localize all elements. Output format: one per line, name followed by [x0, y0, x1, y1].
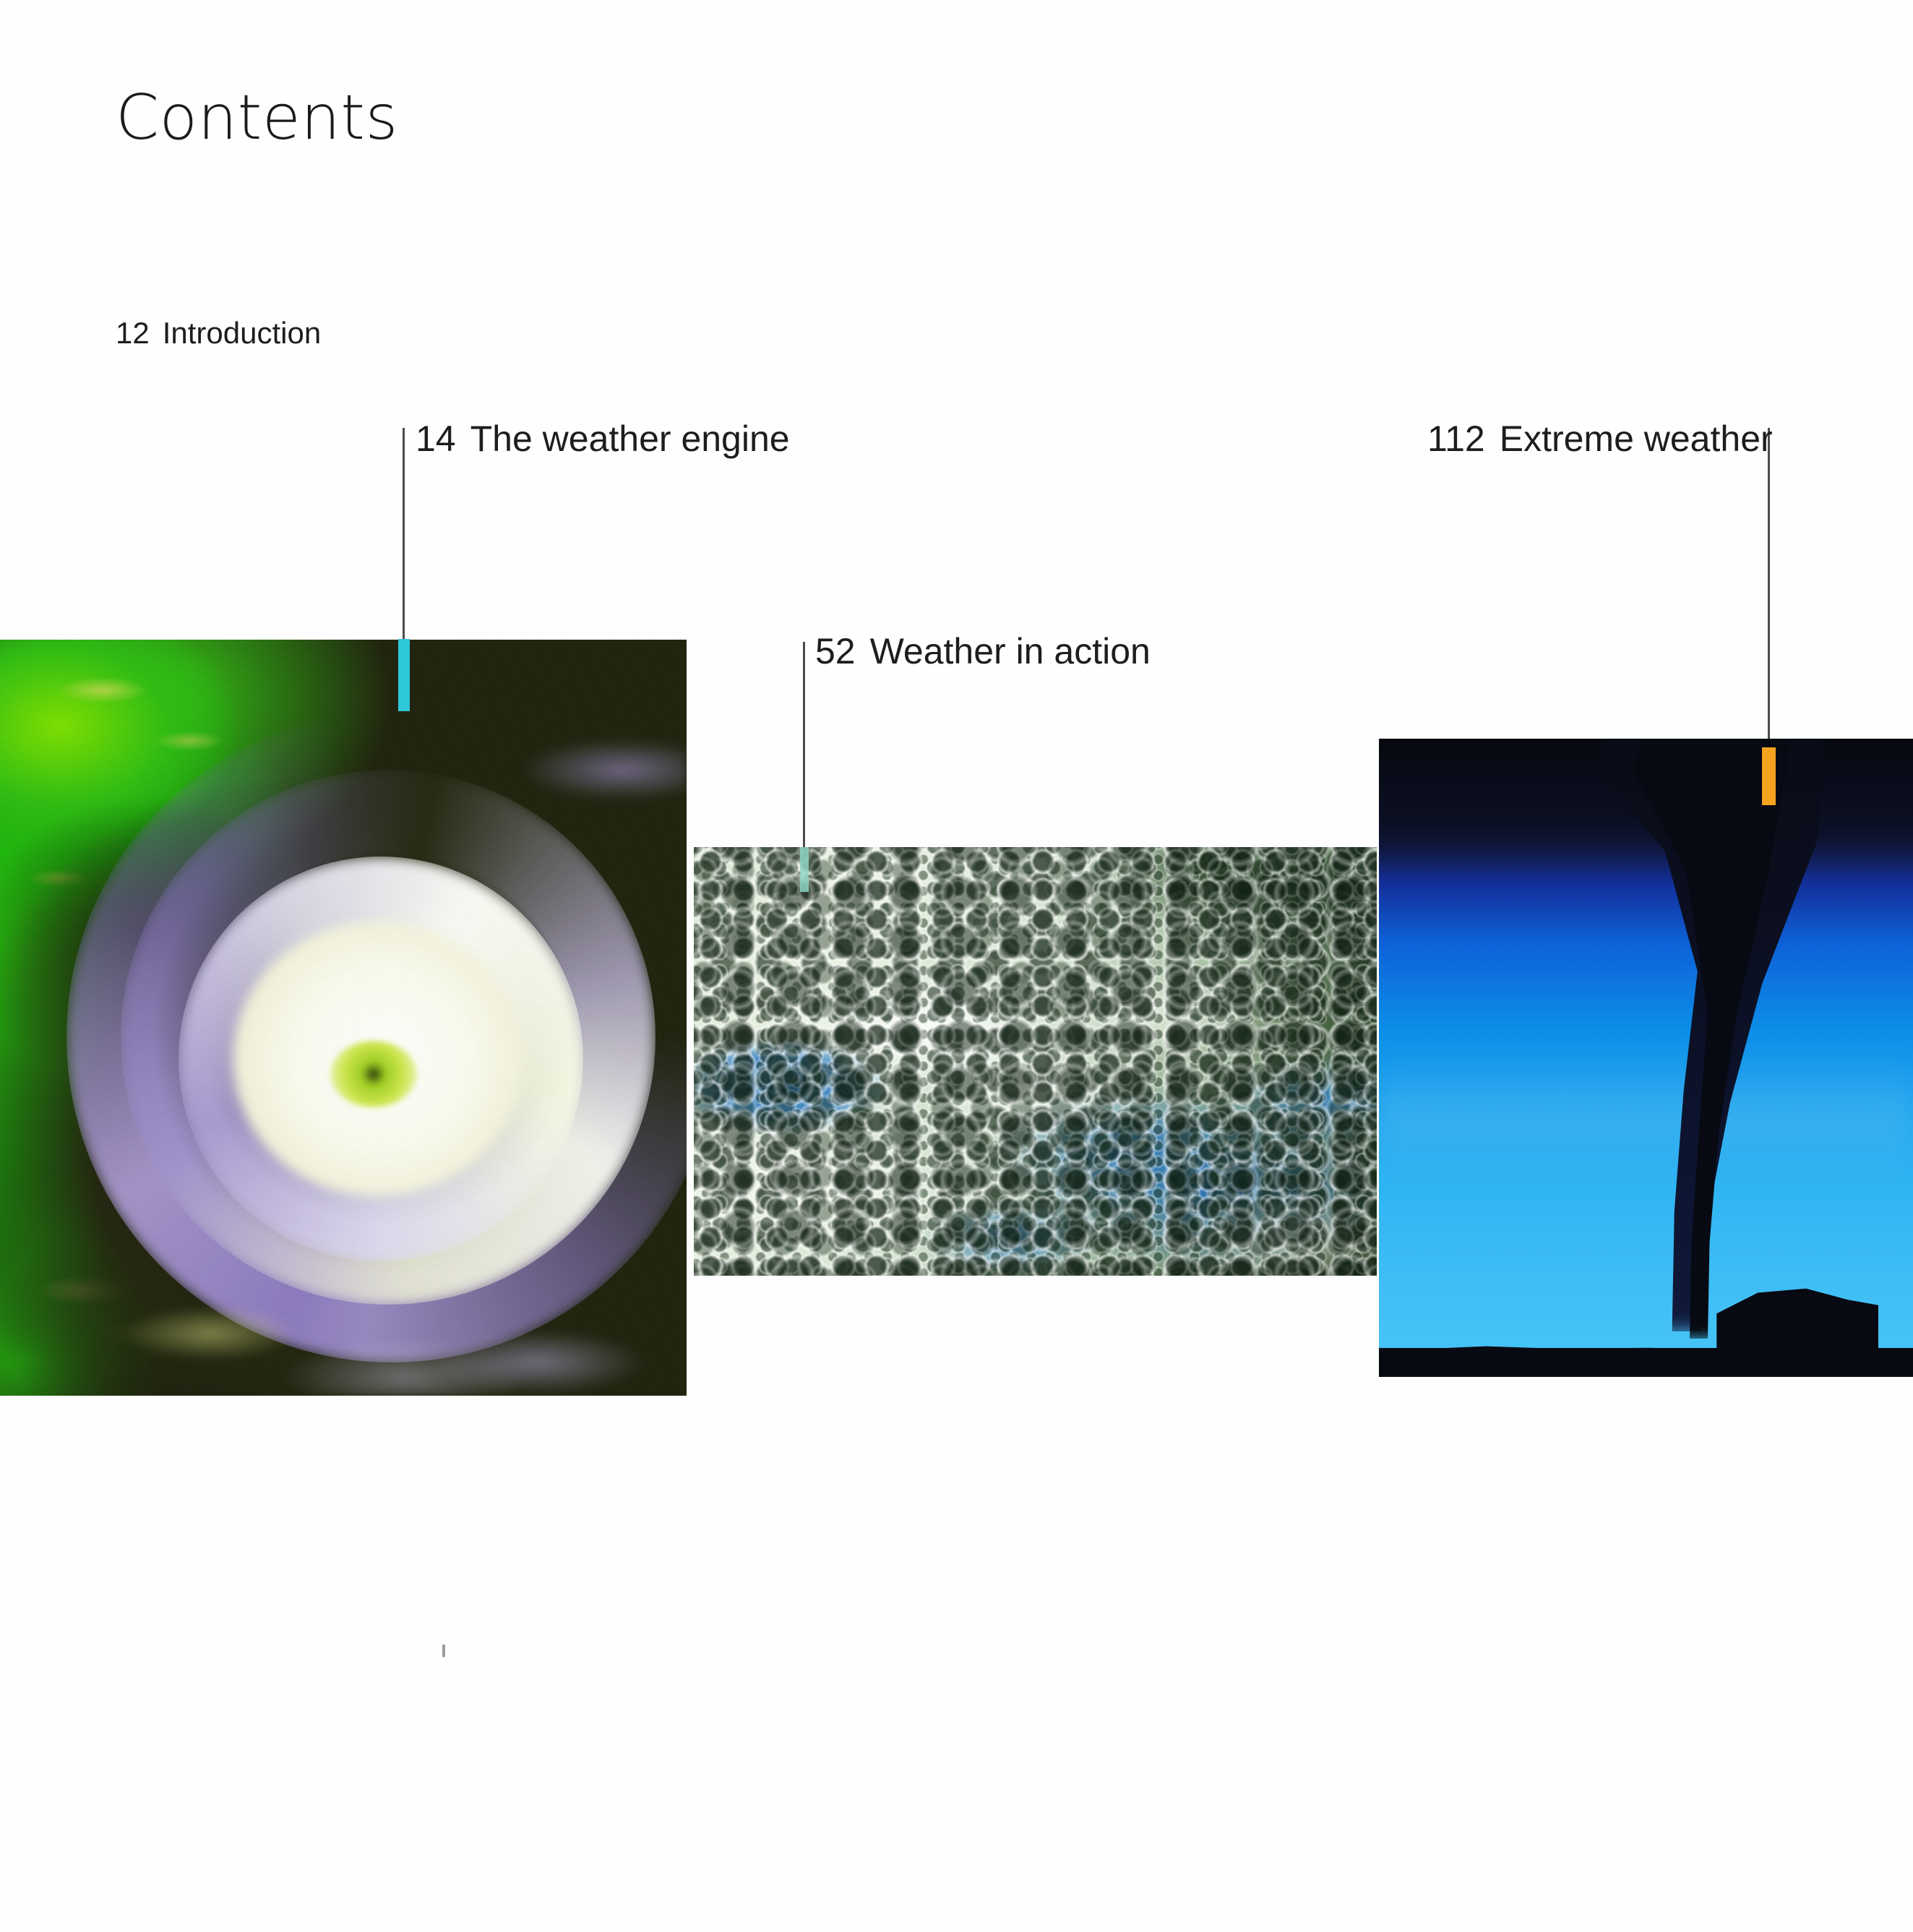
photo-raindrops [694, 847, 1377, 1276]
toc-entry-introduction[interactable]: 12Introduction [116, 316, 321, 351]
toc-entry-label: Introduction [163, 316, 321, 350]
raindrops-droplets-large [694, 847, 1377, 1276]
toc-entry-extreme-weather[interactable]: 112Extreme weather [1427, 418, 1773, 460]
hurricane-grain [0, 640, 687, 1396]
photo-tornado [1379, 739, 1913, 1377]
leader-line-extreme-weather [1768, 428, 1770, 752]
photo-hurricane [0, 640, 687, 1396]
leader-tick-weather-engine [398, 639, 410, 711]
contents-page: Contents 12Introduction 14The weather en… [0, 0, 1913, 1932]
leader-tick-extreme-weather [1762, 747, 1776, 805]
leader-tick-weather-in-action [800, 847, 809, 892]
toc-entry-label: Extreme weather [1500, 418, 1773, 459]
scan-speck [442, 1644, 445, 1657]
toc-entry-label: The weather engine [470, 418, 790, 459]
toc-page-number: 112 [1427, 418, 1485, 459]
toc-entry-weather-engine[interactable]: 14The weather engine [416, 418, 790, 460]
toc-entry-weather-in-action[interactable]: 52Weather in action [815, 630, 1151, 672]
page-title: Contents [116, 87, 398, 149]
leader-line-weather-engine [403, 428, 405, 645]
toc-page-number: 14 [416, 418, 456, 459]
leader-line-weather-in-action [803, 642, 805, 853]
toc-entry-label: Weather in action [870, 631, 1151, 671]
tornado-barn-silhouette [1706, 1284, 1878, 1354]
tornado-sky-haze [1379, 1049, 1913, 1180]
toc-page-number: 12 [116, 316, 150, 350]
toc-page-number: 52 [815, 631, 856, 671]
